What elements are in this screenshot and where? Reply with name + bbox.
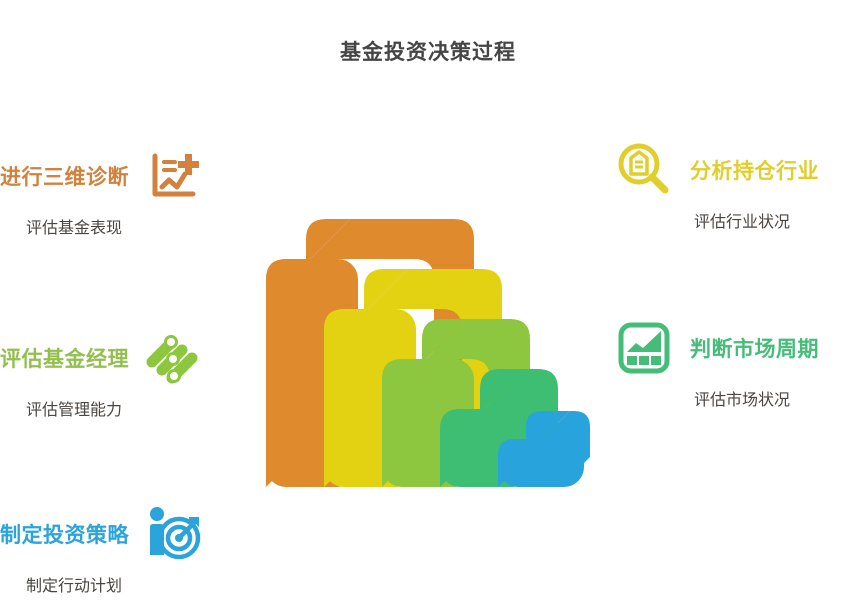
- info-item-subtitle: 制定行动计划: [0, 572, 250, 596]
- info-item-strategy[interactable]: 制定投资策略 制定行动计划: [0, 498, 250, 596]
- info-item-manager[interactable]: 评估基金经理 评估管理能力: [0, 322, 250, 420]
- info-item-heading: 评估基金经理: [0, 343, 129, 373]
- info-item-heading: 制定投资策略: [0, 519, 129, 549]
- info-item-heading: 判断市场周期: [690, 333, 819, 363]
- grid-trend-chart-icon: [612, 316, 676, 380]
- layered-3d-stack: [258, 185, 598, 495]
- info-item-subtitle: 评估管理能力: [0, 396, 250, 420]
- info-item-heading: 分析持仓行业: [690, 155, 819, 185]
- info-item-diagnosis[interactable]: 进行三维诊断 评估基金表现: [0, 140, 250, 238]
- stack-layer-blue: [258, 185, 598, 495]
- info-item-market-cycle[interactable]: 判断市场周期 评估市场状况: [612, 312, 856, 410]
- info-item-heading: 进行三维诊断: [0, 161, 129, 191]
- info-item-subtitle: 评估基金表现: [0, 214, 250, 238]
- magnifier-building-icon: [612, 138, 676, 202]
- info-item-industry[interactable]: 分析持仓行业 评估行业状况: [612, 134, 856, 232]
- chart-plus-icon: [141, 144, 205, 208]
- info-item-subtitle: 评估行业状况: [612, 208, 856, 232]
- info-item-subtitle: 评估市场状况: [612, 386, 856, 410]
- sliders-icon: [141, 326, 205, 390]
- page-title: 基金投资决策过程: [0, 36, 856, 66]
- person-target-icon: [141, 502, 205, 566]
